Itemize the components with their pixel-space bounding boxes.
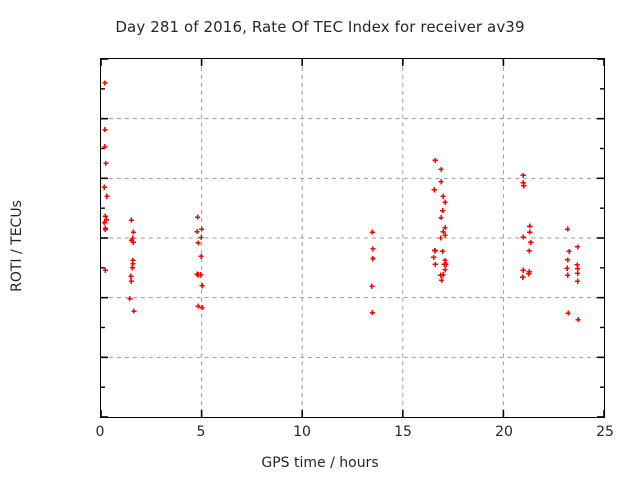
x-tick-label: 10 — [262, 424, 342, 440]
x-axis-label: GPS time / hours — [0, 455, 640, 471]
data-points — [102, 80, 581, 322]
x-tick-label: 5 — [161, 424, 241, 440]
page-title: Day 281 of 2016, Rate Of TEC Index for r… — [0, 18, 640, 36]
y-axis-label: ROTI / TECUs — [9, 166, 25, 326]
plot-area — [100, 58, 605, 418]
x-tick-label: 15 — [363, 424, 443, 440]
scatter-series — [101, 59, 604, 417]
chart-figure: Day 281 of 2016, Rate Of TEC Index for r… — [0, 0, 640, 480]
x-tick-label: 25 — [565, 424, 640, 440]
x-tick-label: 0 — [60, 424, 140, 440]
x-tick-label: 20 — [464, 424, 544, 440]
